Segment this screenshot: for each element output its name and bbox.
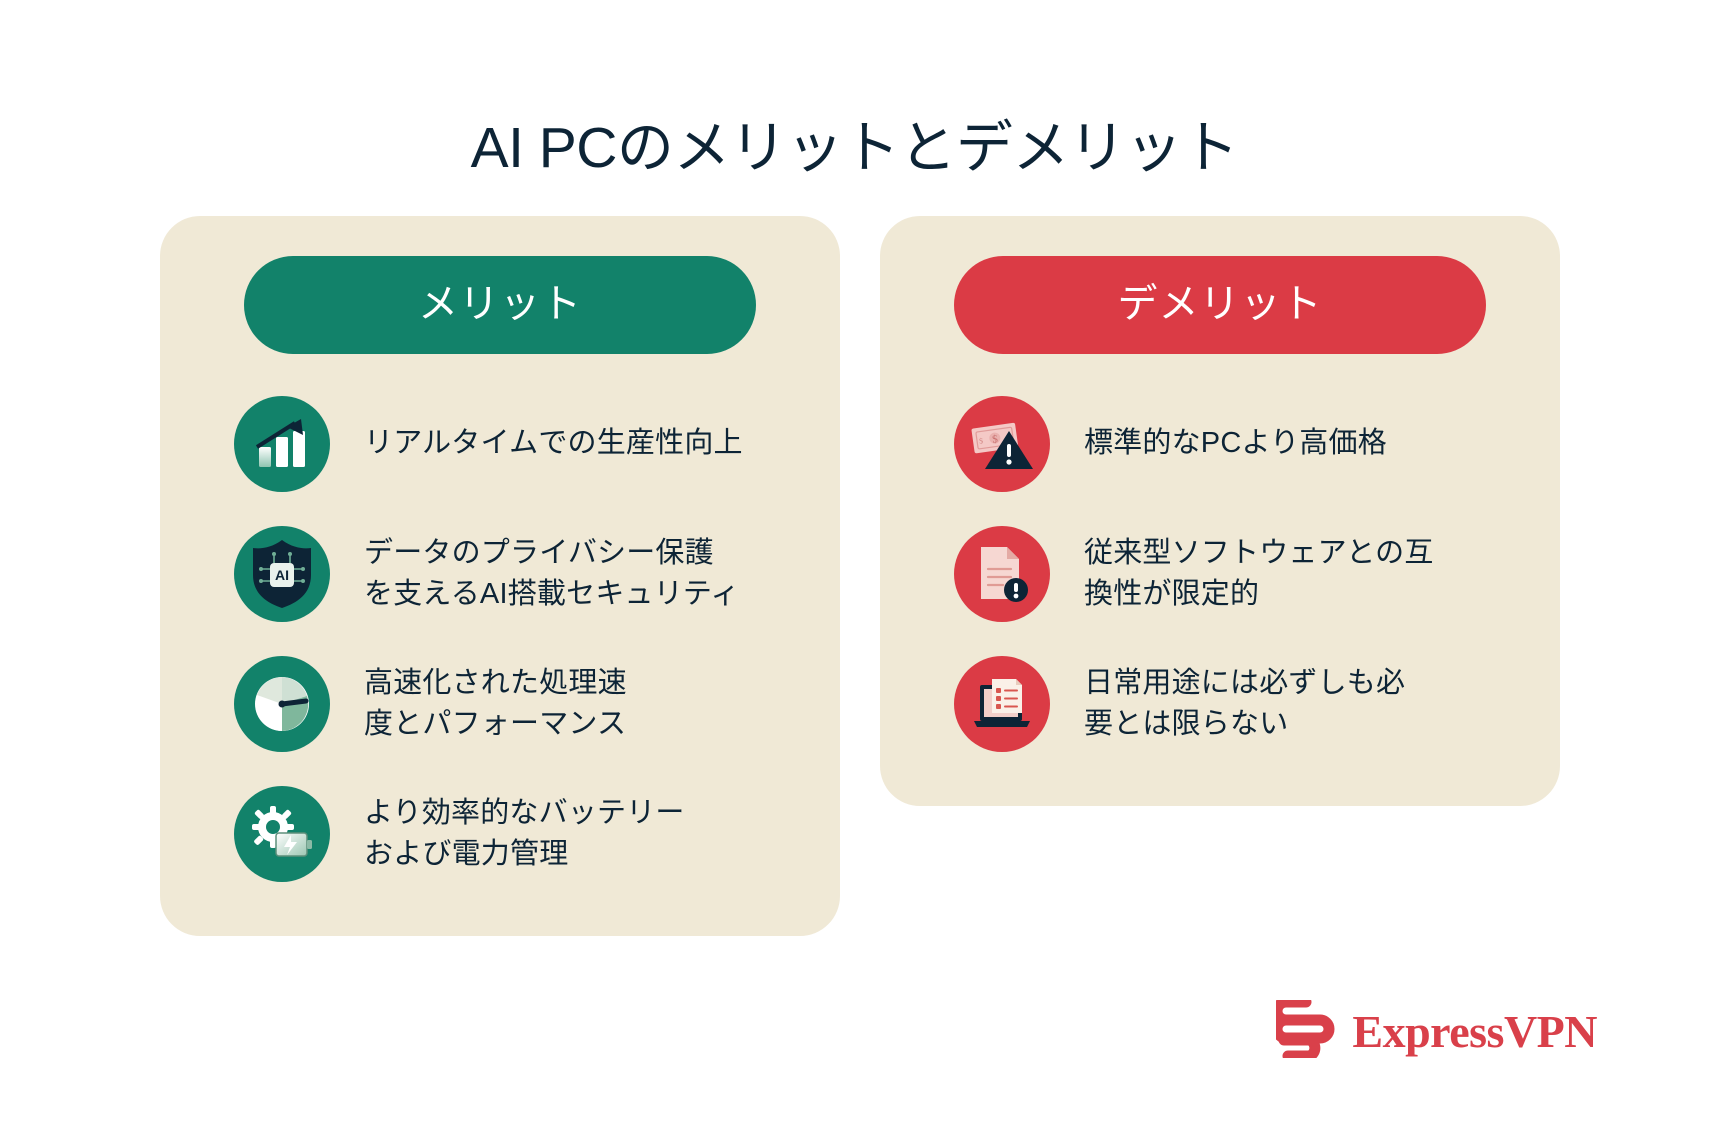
money-warning-icon: $ $ $: [954, 396, 1050, 492]
list-item-label: 従来型ソフトウェアとの互 換性が限定的: [1084, 533, 1434, 615]
list-item: 従来型ソフトウェアとの互 換性が限定的: [926, 526, 1514, 622]
bar-chart-growth-icon: [234, 396, 330, 492]
list-item: $ $ $ 標準的なPCより高価格: [926, 396, 1514, 492]
page-title: AI PCのメリットとデメリット: [0, 116, 1709, 182]
pros-card: メリット: [160, 216, 840, 936]
cons-card: デメリット $ $ $: [880, 216, 1560, 806]
list-item: リアルタイムでの生産性向上: [206, 396, 794, 492]
document-alert-icon: [954, 526, 1050, 622]
gear-battery-icon: [234, 786, 330, 882]
cons-item-list: $ $ $ 標準的なPCより高価格: [926, 396, 1514, 752]
list-item-label: リアルタイムでの生産性向上: [364, 423, 743, 464]
list-item-label: より効率的なバッテリー および電力管理: [364, 793, 685, 875]
speed-gauge-icon: [234, 656, 330, 752]
laptop-checklist-icon: [954, 656, 1050, 752]
list-item-label: データのプライバシー保護 を支えるAI搭載セキュリティ: [364, 533, 740, 615]
expressvpn-swoosh-icon: [1276, 1000, 1338, 1063]
svg-text:AI: AI: [275, 567, 289, 583]
expressvpn-logo: ExpressVPN: [1276, 1000, 1597, 1063]
comparison-columns: メリット: [160, 216, 1560, 936]
expressvpn-wordmark: ExpressVPN: [1352, 1009, 1597, 1055]
list-item: AI データのプライバシー保護 を支えるAI搭載セキュリティ: [206, 526, 794, 622]
list-item-label: 高速化された処理速 度とパフォーマンス: [364, 663, 627, 745]
list-item: 日常用途には必ずしも必 要とは限らない: [926, 656, 1514, 752]
cons-heading: デメリット: [954, 256, 1486, 354]
pros-item-list: リアルタイムでの生産性向上 AI: [206, 396, 794, 882]
list-item-label: 標準的なPCより高価格: [1084, 423, 1387, 464]
list-item: より効率的なバッテリー および電力管理: [206, 786, 794, 882]
list-item: 高速化された処理速 度とパフォーマンス: [206, 656, 794, 752]
list-item-label: 日常用途には必ずしも必 要とは限らない: [1084, 663, 1405, 745]
shield-ai-icon: AI: [234, 526, 330, 622]
pros-heading: メリット: [244, 256, 756, 354]
